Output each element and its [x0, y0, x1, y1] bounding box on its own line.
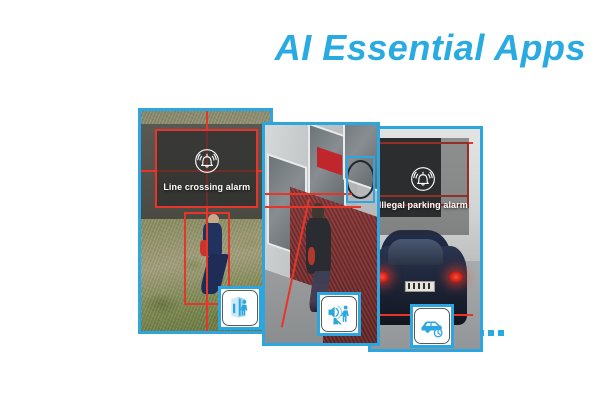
- badge-audio-alarm-intrusion[interactable]: [317, 292, 361, 336]
- person-coat: [306, 218, 330, 275]
- object-highlight-box: [346, 156, 375, 204]
- person-bag: [308, 247, 316, 264]
- bell-icon: [190, 144, 224, 178]
- badge-line-crossing[interactable]: [218, 286, 262, 330]
- alarm-plaque-illegal-parking: Illegal parking alarm: [378, 138, 470, 235]
- region-line-second: [265, 206, 361, 208]
- alarm-label-line-crossing: Line crossing alarm: [163, 182, 250, 192]
- car-rear-window: [388, 239, 442, 264]
- car-timer-icon: [414, 308, 450, 344]
- ellipsis-dot-3: [498, 330, 504, 336]
- ellipsis-dot-2: [488, 330, 494, 336]
- page-title: AI Essential Apps: [246, 28, 586, 68]
- ai-essential-apps-graphic: AI Essential Apps: [0, 0, 600, 413]
- tail-light-right: [449, 271, 463, 283]
- alarm-plaque-line-crossing: Line crossing alarm: [155, 129, 258, 208]
- license-plate: [405, 281, 435, 292]
- audio-alarm-intrusion-icon: [321, 296, 357, 332]
- line-crossing-icon: [222, 290, 258, 326]
- region-line-top: [265, 193, 352, 195]
- bell-icon: [406, 162, 440, 196]
- badge-illegal-parking[interactable]: [410, 304, 454, 348]
- alarm-label-illegal-parking: Illegal parking alarm: [379, 200, 468, 210]
